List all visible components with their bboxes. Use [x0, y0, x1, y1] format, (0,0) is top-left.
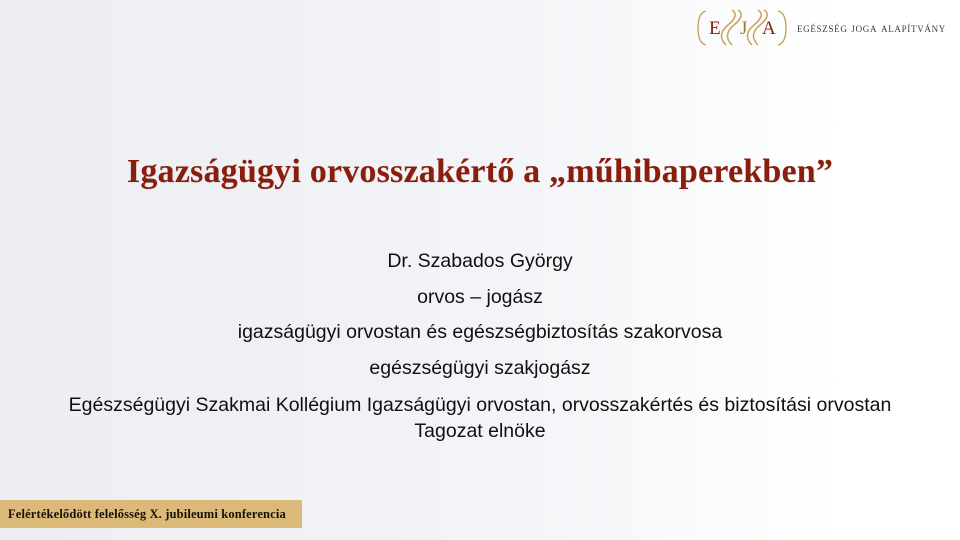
- conference-footer-text: Felértékelődött felelősség X. jubileumi …: [0, 507, 286, 522]
- subtitle-line-legal-specialty: egészségügyi szakjogász: [40, 351, 920, 387]
- subtitle-line-position: Egészségügyi Szakmai Kollégium Igazságüg…: [40, 386, 920, 444]
- eja-monogram-icon: E J A: [696, 7, 788, 49]
- organization-logo: E J A Egészség Joga Alapítvány: [696, 6, 946, 50]
- logo-organization-name: Egészség Joga Alapítvány: [797, 21, 946, 36]
- subtitle-line-author: Dr. Szabados György: [40, 244, 920, 280]
- subtitle-line-profession: orvos – jogász: [40, 280, 920, 316]
- conference-footer-bar: Felértékelődött felelősség X. jubileumi …: [0, 500, 302, 528]
- svg-text:J: J: [740, 18, 747, 39]
- slide-subtitle: Dr. Szabados György orvos – jogász igazs…: [40, 244, 920, 444]
- presentation-slide: E J A Egészség Joga Alapítvány Igazságüg…: [0, 0, 960, 540]
- subtitle-line-specialty: igazságügyi orvostan és egészségbiztosít…: [40, 315, 920, 351]
- slide-title: Igazságügyi orvosszakértő a „műhibaperek…: [60, 152, 900, 192]
- svg-text:E: E: [709, 18, 721, 39]
- svg-text:A: A: [762, 18, 776, 39]
